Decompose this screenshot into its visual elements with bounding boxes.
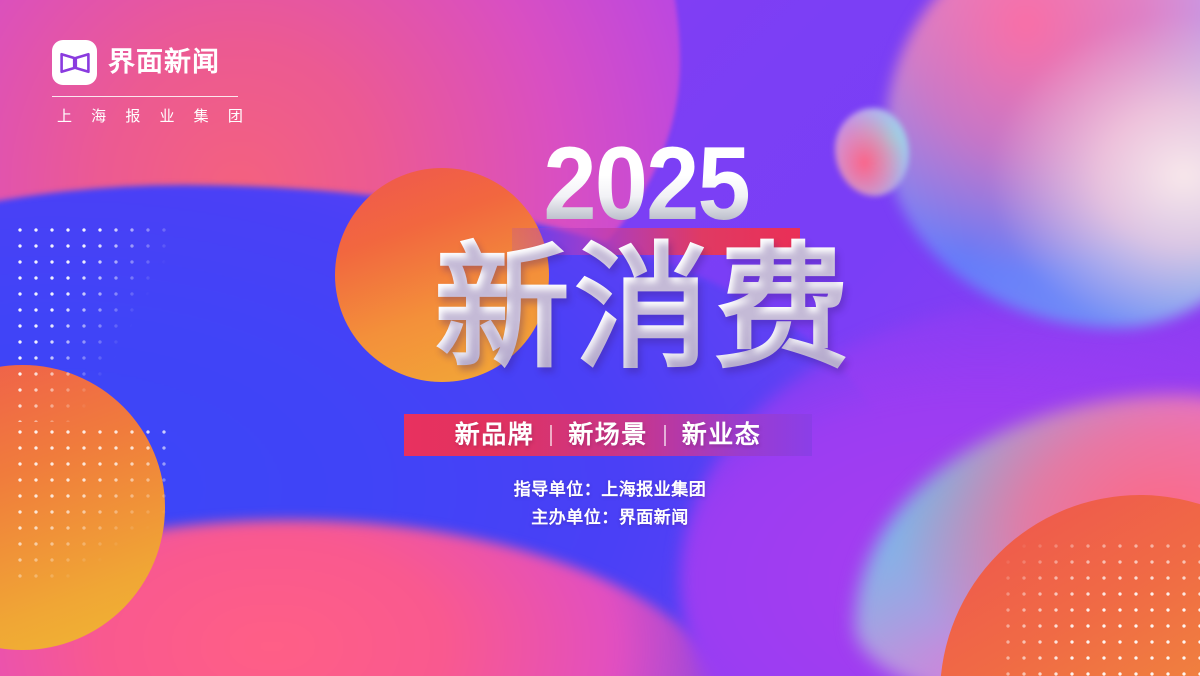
hero-headline: 新消费 [0, 235, 1200, 382]
subtitle-item-1: 新品牌 [439, 423, 551, 448]
subtitle-item-2: 新场景 [552, 423, 664, 448]
subtitle-bar: 新品牌 新场景 新业态 [404, 414, 812, 456]
poster-canvas: 界面新闻 上 海 报 业 集 团 2025 新消费 新品牌 新场景 新业态 指导… [0, 0, 1200, 676]
subtitle-item-3: 新业态 [666, 423, 778, 448]
credit-line-organizer: 主办单位：界面新闻 [10, 504, 1200, 532]
hero-content: 2025 新消费 新品牌 新场景 新业态 指导单位：上海报业集团 主办单位：界面… [0, 0, 1200, 676]
hero-year: 2025 [50, 132, 1198, 236]
credit-line-guidance: 指导单位：上海报业集团 [10, 476, 1200, 504]
credits-block: 指导单位：上海报业集团 主办单位：界面新闻 [0, 476, 1200, 532]
